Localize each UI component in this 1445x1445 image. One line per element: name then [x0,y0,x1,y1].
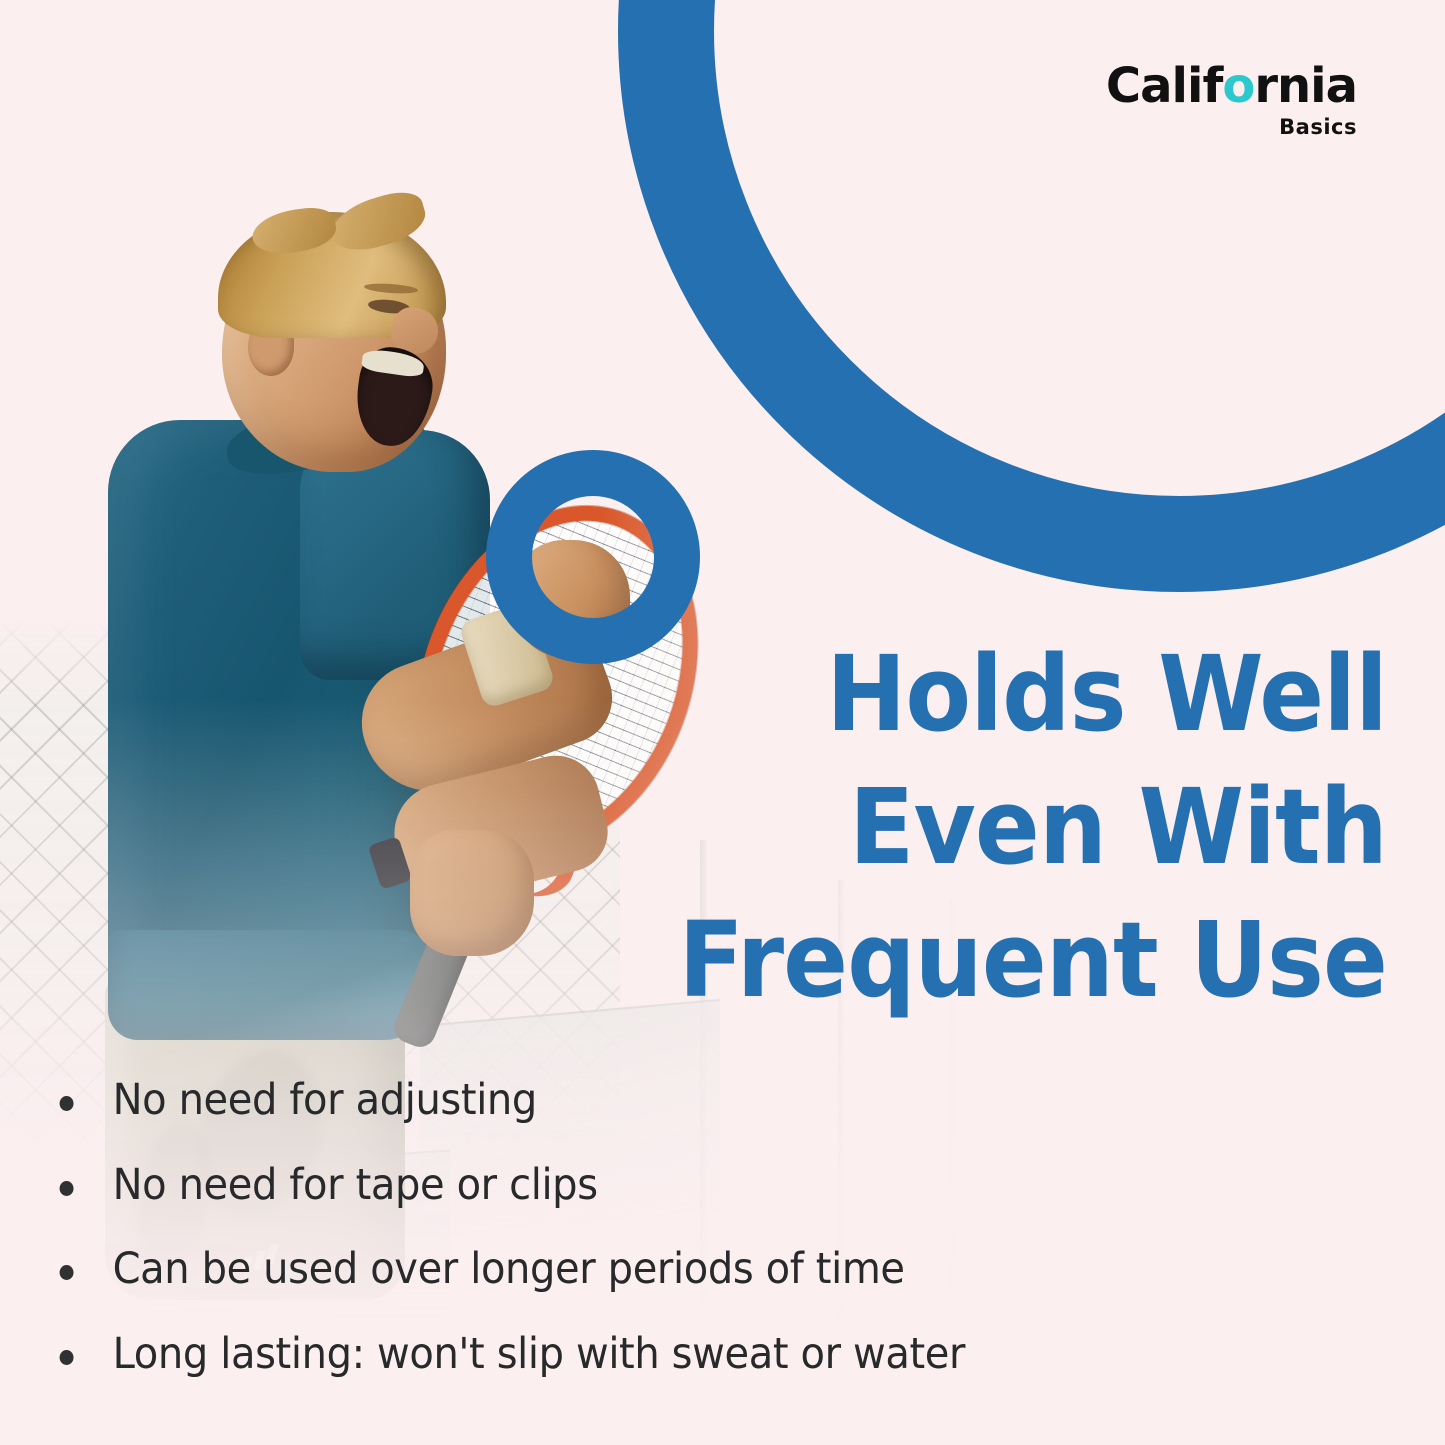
athlete-gripping-hand [410,830,534,956]
list-item: Long lasting: won't slip with sweat or w… [54,1332,1300,1378]
list-item: Can be used over longer periods of time [54,1247,1300,1293]
brand-name-part2: rnia [1254,58,1357,114]
brand-name-part1: Calif [1106,58,1222,114]
headline-line-2: Even With [559,761,1387,894]
brand-name-accent-letter: o [1222,58,1254,114]
headline-line-3: Frequent Use [559,894,1387,1027]
headline: Holds Well Even With Frequent Use [559,628,1387,1027]
list-item: No need for adjusting [54,1078,1300,1124]
brand-logo: California Basics [1106,62,1357,138]
brand-name: California [1106,62,1357,110]
brand-subtitle: Basics [1106,117,1357,138]
feature-bullet-list: No need for adjusting No need for tape o… [54,1078,1394,1416]
promo-image-canvas: California Basics Holds Well Even With F… [0,0,1445,1445]
headline-line-1: Holds Well [559,628,1387,761]
list-item: No need for tape or clips [54,1163,1300,1209]
shirt-hem [108,930,430,1040]
